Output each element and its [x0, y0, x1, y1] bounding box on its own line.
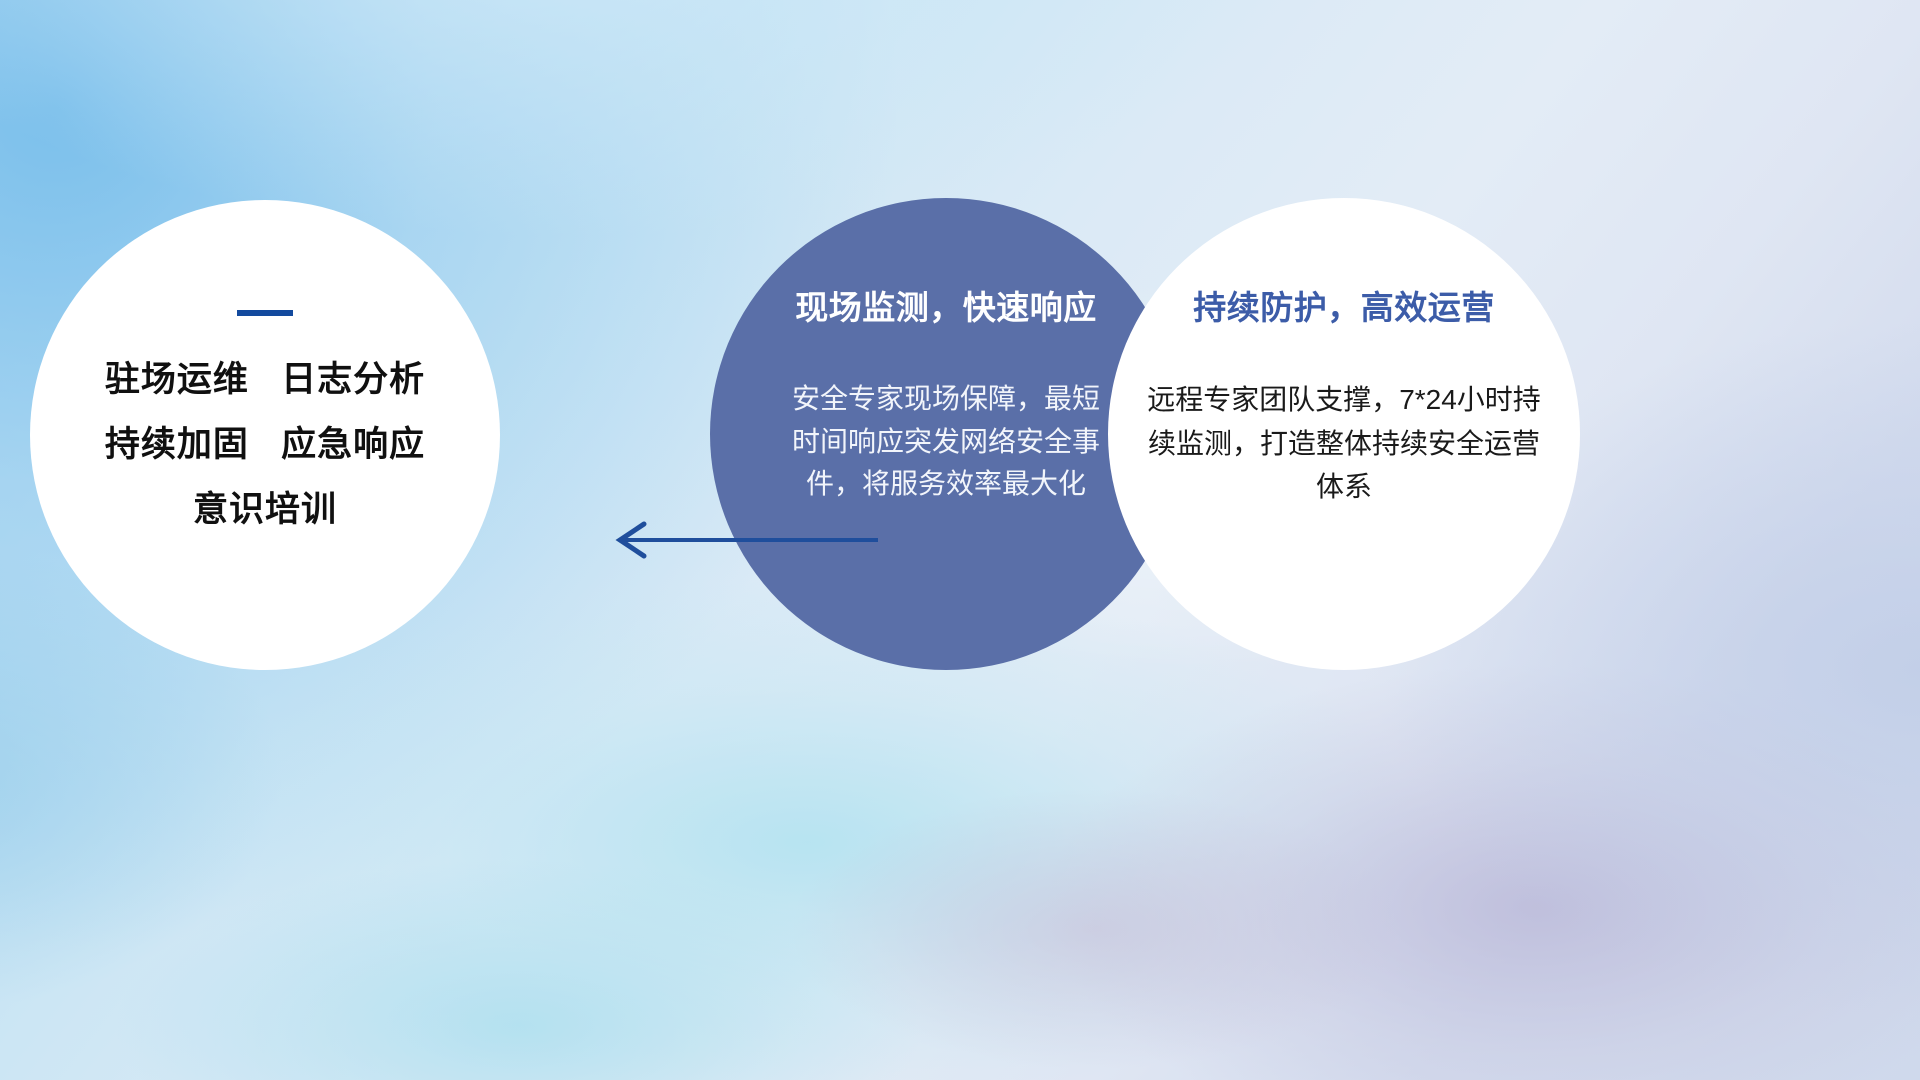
capability-line-3: 意识培训: [193, 492, 337, 527]
capability-line-1: 驻场运维 日志分析: [105, 362, 425, 397]
capabilities-card[interactable]: 驻场运维 日志分析 持续加固 应急响应 意识培训: [30, 200, 500, 670]
divider-bar: [237, 310, 293, 316]
flow-arrow-left-icon: [600, 505, 880, 575]
slide-canvas: 驻场运维 日志分析 持续加固 应急响应 意识培训 现场监测，快速响应 安全专家现…: [0, 0, 1920, 1080]
continuous-protection-circle-shape[interactable]: [1108, 198, 1580, 670]
capability-line-2: 持续加固 应急响应: [105, 427, 425, 462]
